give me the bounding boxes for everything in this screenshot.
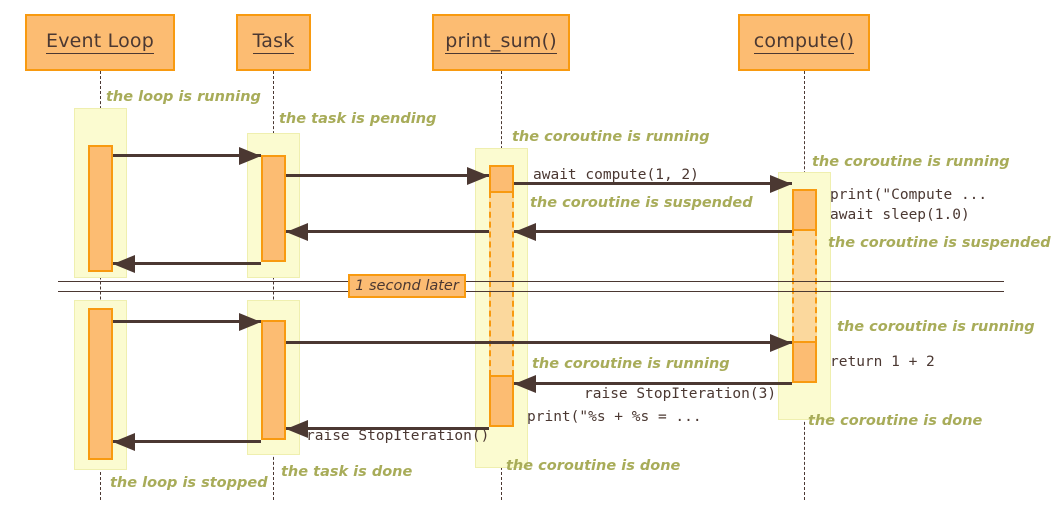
note-task-pending: the task is pending	[279, 111, 436, 128]
code-label-return-sum: return 1 + 2	[830, 353, 935, 372]
act-task-1	[261, 155, 286, 262]
participant-label-print_sum: print_sum()	[445, 31, 557, 55]
note-coroutine-running-1: the coroutine is running	[512, 129, 710, 146]
msg-task-to-printsum-1	[286, 174, 489, 177]
act-printsum-1	[489, 165, 514, 193]
note-loop-stopped: the loop is stopped	[110, 475, 268, 492]
msg-printsum-to-compute-arrowhead	[770, 175, 792, 193]
participant-label-event_loop: Event Loop	[46, 31, 154, 55]
note-coroutine-running-3: the coroutine is running	[837, 319, 1035, 336]
note-coroutine-suspended-1: the coroutine is suspended	[530, 195, 753, 212]
msg-printsum-to-task-1	[286, 230, 489, 233]
code-label-await-compute: await compute(1, 2)	[533, 166, 699, 185]
code-label-print-compute: print("Compute ...	[830, 186, 987, 205]
participant-event_loop[interactable]: Event Loop	[25, 14, 175, 71]
act-compute-2	[792, 341, 817, 383]
susp-printsum	[489, 192, 514, 376]
note-coroutine-suspended-2: the coroutine is suspended	[828, 235, 1051, 252]
msg-compute-to-printsum-1-arrowhead	[514, 223, 536, 241]
msg-compute-to-printsum-1	[514, 230, 792, 233]
msg-loop-to-task-2-arrowhead	[239, 313, 261, 331]
act-printsum-2	[489, 375, 514, 427]
note-coroutine-done-1: the coroutine is done	[808, 413, 982, 430]
msg-task-to-loop-1-arrowhead	[113, 255, 135, 273]
code-label-print-result: print("%s + %s = ...	[527, 408, 702, 427]
note-task-done: the task is done	[281, 464, 412, 481]
delay-line-1	[58, 281, 1004, 282]
note-coroutine-done-2: the coroutine is done	[506, 458, 680, 475]
participant-label-task: Task	[253, 31, 295, 55]
act-task-2	[261, 320, 286, 440]
msg-task-to-compute	[286, 341, 792, 344]
participant-label-compute: compute()	[754, 31, 854, 55]
act-loop-1	[88, 145, 113, 272]
msg-printsum-to-task-2-arrowhead	[286, 420, 308, 438]
msg-task-to-loop-1	[113, 262, 261, 265]
msg-task-to-loop-2	[113, 440, 261, 443]
code-label-raise-stop: raise StopIteration()	[306, 427, 489, 446]
participant-task[interactable]: Task	[236, 14, 311, 71]
code-label-raise-stop-3: raise StopIteration(3)	[584, 385, 776, 404]
msg-task-to-printsum-1-arrowhead	[467, 167, 489, 185]
delay-label-box: 1 second later	[348, 274, 466, 298]
susp-compute	[792, 230, 817, 342]
delay-label: 1 second later	[355, 278, 459, 294]
msg-task-to-loop-2-arrowhead	[113, 433, 135, 451]
msg-compute-to-printsum-2-arrowhead	[514, 375, 536, 393]
participant-print_sum[interactable]: print_sum()	[432, 14, 570, 71]
act-compute-1	[792, 189, 817, 231]
note-loop-running-1: the loop is running	[106, 89, 261, 106]
msg-printsum-to-task-1-arrowhead	[286, 223, 308, 241]
delay-line-2	[58, 291, 1004, 292]
msg-loop-to-task-1-arrowhead	[239, 147, 261, 165]
code-label-await-sleep: await sleep(1.0)	[830, 206, 970, 225]
sequence-diagram: 1 second laterEvent LoopTaskprint_sum()c…	[0, 0, 1062, 513]
act-loop-2	[88, 308, 113, 460]
msg-task-to-compute-arrowhead	[770, 334, 792, 352]
participant-compute[interactable]: compute()	[738, 14, 870, 71]
note-coroutine-running-4: the coroutine is running	[532, 356, 730, 373]
note-coroutine-running-2: the coroutine is running	[812, 154, 1010, 171]
